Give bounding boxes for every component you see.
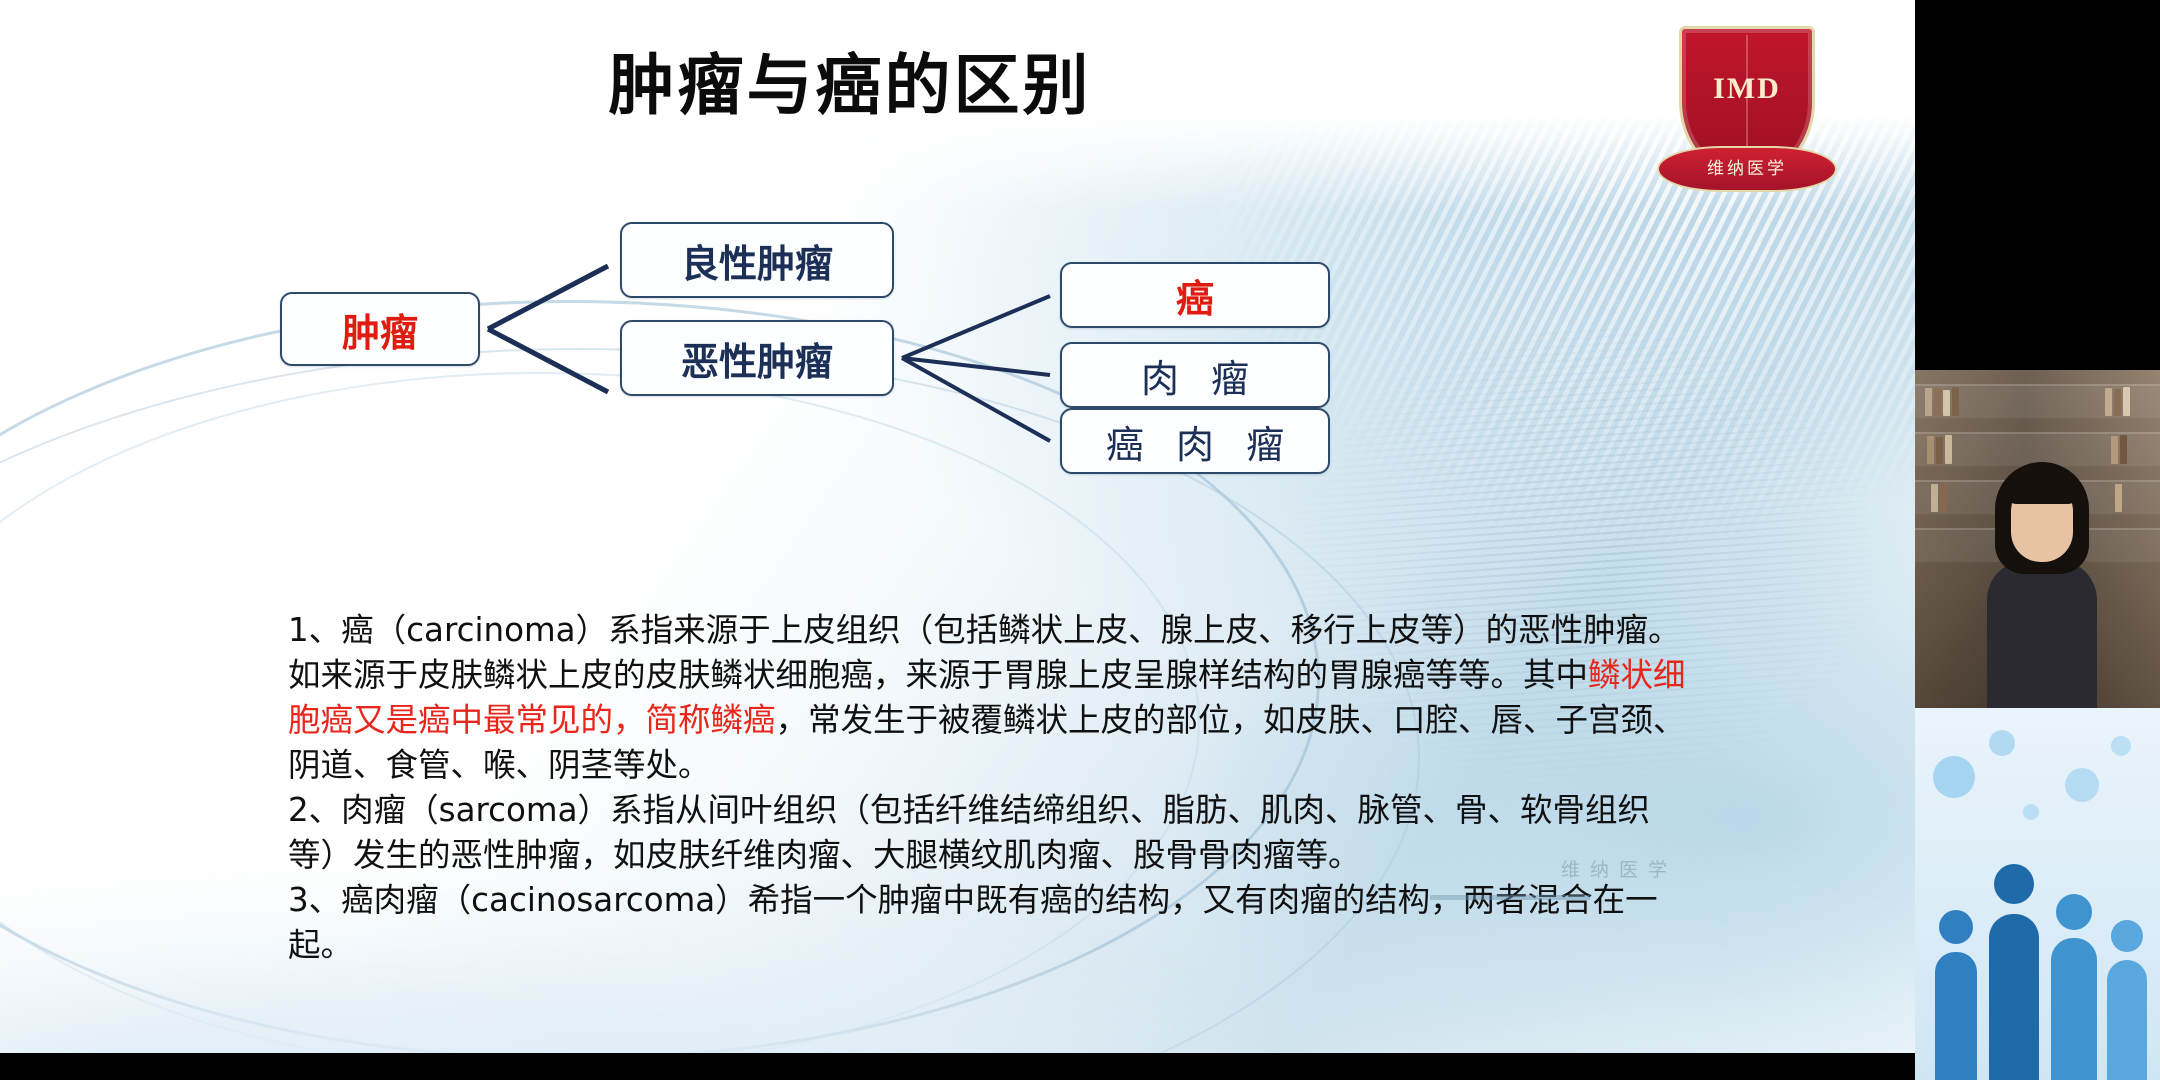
decorative-bubble <box>2065 768 2099 802</box>
participant-fringe <box>2005 470 2079 504</box>
decorative-figure-head <box>1939 910 1973 944</box>
diagram-node-label: 肉 瘤 <box>1131 348 1259 403</box>
shelf-book <box>1936 437 1943 464</box>
shelf-book <box>2114 389 2121 416</box>
decorative-figure-head <box>2056 894 2092 930</box>
decorative-figure <box>2051 938 2097 1080</box>
shelf-book <box>1934 388 1941 416</box>
shelf-book <box>1940 483 1947 512</box>
slide-watermark-bar <box>1430 895 1590 900</box>
slide-watermark: 维 纳 医 学 <box>1440 855 1790 882</box>
decorative-bubble <box>1989 730 2015 756</box>
decorative-figure-head <box>2111 920 2143 952</box>
diagram-node-label: 恶性肿瘤 <box>681 331 833 386</box>
shelf-book <box>2111 436 2118 464</box>
footer-illustration <box>1915 708 2160 1080</box>
paragraph-1-part-a: 1、癌（carcinoma）系指来源于上皮组织（包括鳞状上皮、腺上皮、移行上皮等… <box>288 611 1681 694</box>
body-paragraph-1: 1、癌（carcinoma）系指来源于上皮组织（包括鳞状上皮、腺上皮、移行上皮等… <box>288 608 1688 788</box>
webcam-participant <box>1987 462 2097 708</box>
decorative-bubble <box>1933 756 1975 798</box>
shelf-book <box>2105 388 2112 416</box>
decorative-figure <box>1989 914 2039 1080</box>
decorative-figure <box>2107 960 2147 1080</box>
decorative-bubble <box>2111 736 2131 756</box>
slide-bottom-bar <box>0 1053 1915 1080</box>
classification-diagram: 肿瘤 良性肿瘤 恶性肿瘤 癌 肉 瘤 癌 肉 瘤 <box>260 210 1520 540</box>
diagram-node-label: 癌 肉 瘤 <box>1096 414 1294 469</box>
logo-ribbon-label: 维纳医学 <box>1657 146 1837 192</box>
shelf-book <box>1952 387 1959 416</box>
shelf-book <box>2120 435 2127 464</box>
diagram-node-tumor[interactable]: 肿瘤 <box>280 292 480 366</box>
decorative-bubble <box>2023 804 2039 820</box>
diagram-node-label: 癌 <box>1176 268 1214 323</box>
presentation-slide: IMD 维纳医学 肿瘤与癌的区别 肿瘤 良性肿瘤 恶性肿瘤 <box>0 0 1915 1053</box>
diagram-node-carcinoma[interactable]: 癌 <box>1060 262 1330 328</box>
diagram-node-label: 良性肿瘤 <box>681 233 833 288</box>
decorative-figure-head <box>1994 864 2034 904</box>
shelf-book <box>2115 484 2122 512</box>
diagram-node-malignant-tumor[interactable]: 恶性肿瘤 <box>620 320 894 396</box>
screen-root: IMD 维纳医学 肿瘤与癌的区别 肿瘤 良性肿瘤 恶性肿瘤 <box>0 0 2160 1080</box>
shelf-book <box>1943 390 1950 416</box>
right-panel-filler <box>1915 0 2160 370</box>
diagram-node-benign-tumor[interactable]: 良性肿瘤 <box>620 222 894 298</box>
slide-body-text: 1、癌（carcinoma）系指来源于上皮组织（包括鳞状上皮、腺上皮、移行上皮等… <box>288 608 1688 968</box>
shelf-book <box>1927 436 1934 464</box>
diagram-node-sarcoma[interactable]: 肉 瘤 <box>1060 342 1330 408</box>
shelf-book <box>2123 387 2130 416</box>
shelf-book <box>1925 388 1932 416</box>
participant-torso <box>1987 560 2097 708</box>
shelf-book <box>1931 484 1938 512</box>
diagram-node-carcinosarcoma[interactable]: 癌 肉 瘤 <box>1060 408 1330 474</box>
body-paragraph-3: 3、癌肉瘤（cacinosarcoma）希指一个肿瘤中既有癌的结构，又有肉瘤的结… <box>288 878 1688 968</box>
page-title: 肿瘤与癌的区别 <box>0 32 1700 128</box>
shelf-book <box>1945 435 1952 464</box>
decorative-figure <box>1935 952 1977 1080</box>
diagram-node-label: 肿瘤 <box>342 302 418 357</box>
webcam-video-tile[interactable] <box>1915 370 2160 708</box>
